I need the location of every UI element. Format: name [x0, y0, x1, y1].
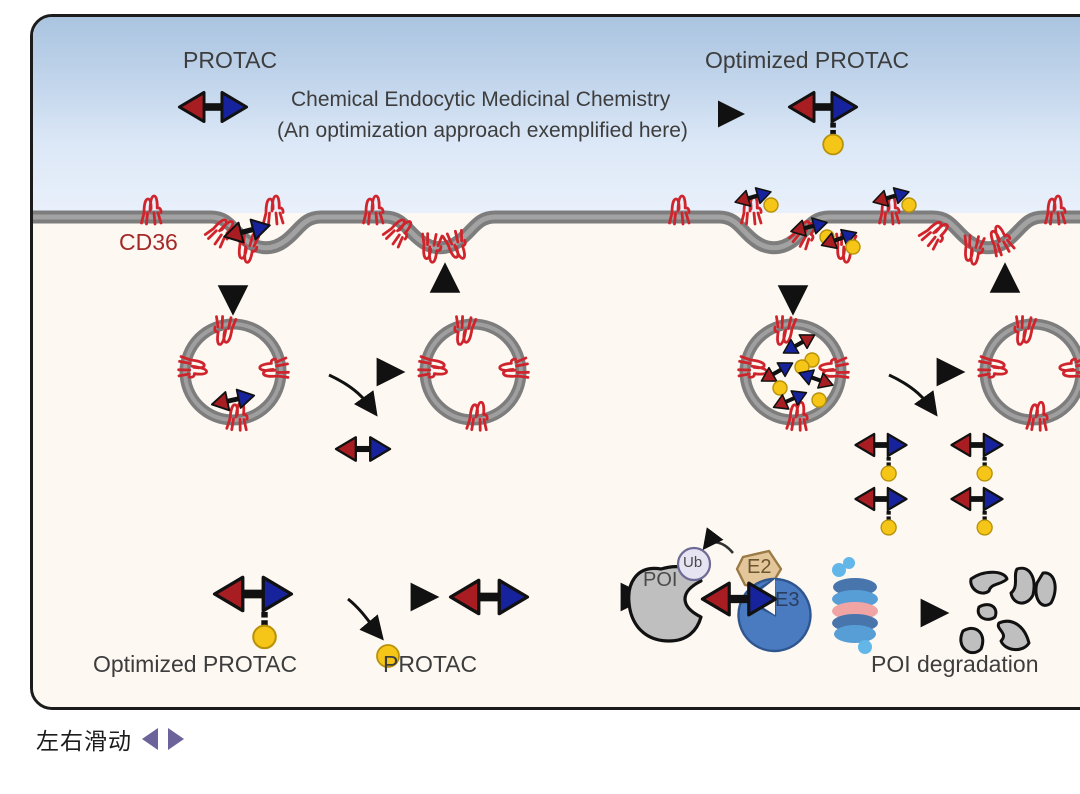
label-poi-degradation: POI degradation	[871, 651, 1039, 678]
diagram-frame: PROTAC Optimized PROTAC Chemical Endocyt…	[30, 14, 1080, 710]
label-optimized-protac-bottom: Optimized PROTAC	[93, 651, 297, 678]
label-protac-bottom: PROTAC	[383, 651, 477, 678]
label-ub: Ub	[683, 554, 702, 571]
label-e2: E2	[747, 556, 771, 579]
label-arrow-line1: Chemical Endocytic Medicinal Chemistry	[291, 88, 670, 112]
label-arrow-line2: (An optimization approach exemplified he…	[277, 119, 688, 143]
label-e3: E3	[775, 589, 799, 612]
label-optimized-protac-top: Optimized PROTAC	[705, 47, 909, 74]
label-protac-top: PROTAC	[183, 47, 277, 74]
triangle-right-icon[interactable]	[168, 728, 184, 750]
slide-navigation[interactable]: 左右滑动	[36, 722, 184, 756]
triangle-left-icon[interactable]	[142, 728, 158, 750]
optimization-protac-molecule	[179, 92, 246, 121]
label-poi: POI	[643, 569, 677, 592]
swipe-hint-text: 左右滑动	[36, 722, 132, 756]
optimized-protac-molecule	[789, 92, 856, 154]
label-cd36: CD36	[119, 229, 178, 256]
